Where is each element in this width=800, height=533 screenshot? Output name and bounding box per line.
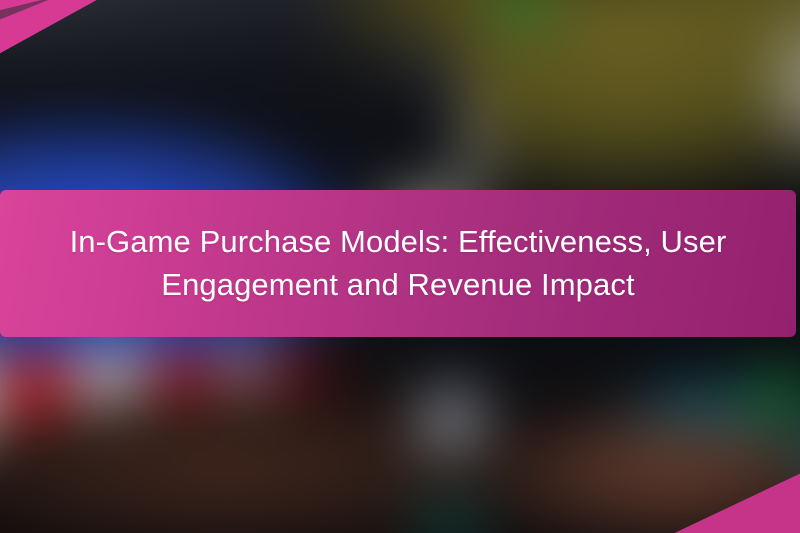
article-hero-card: In-Game Purchase Models: Effectiveness, … [0,0,800,533]
background-bottom-vignette [0,457,800,533]
page-title: In-Game Purchase Models: Effectiveness, … [58,221,738,305]
background-pale-blob-right [730,0,800,208]
title-banner: In-Game Purchase Models: Effectiveness, … [0,190,796,337]
